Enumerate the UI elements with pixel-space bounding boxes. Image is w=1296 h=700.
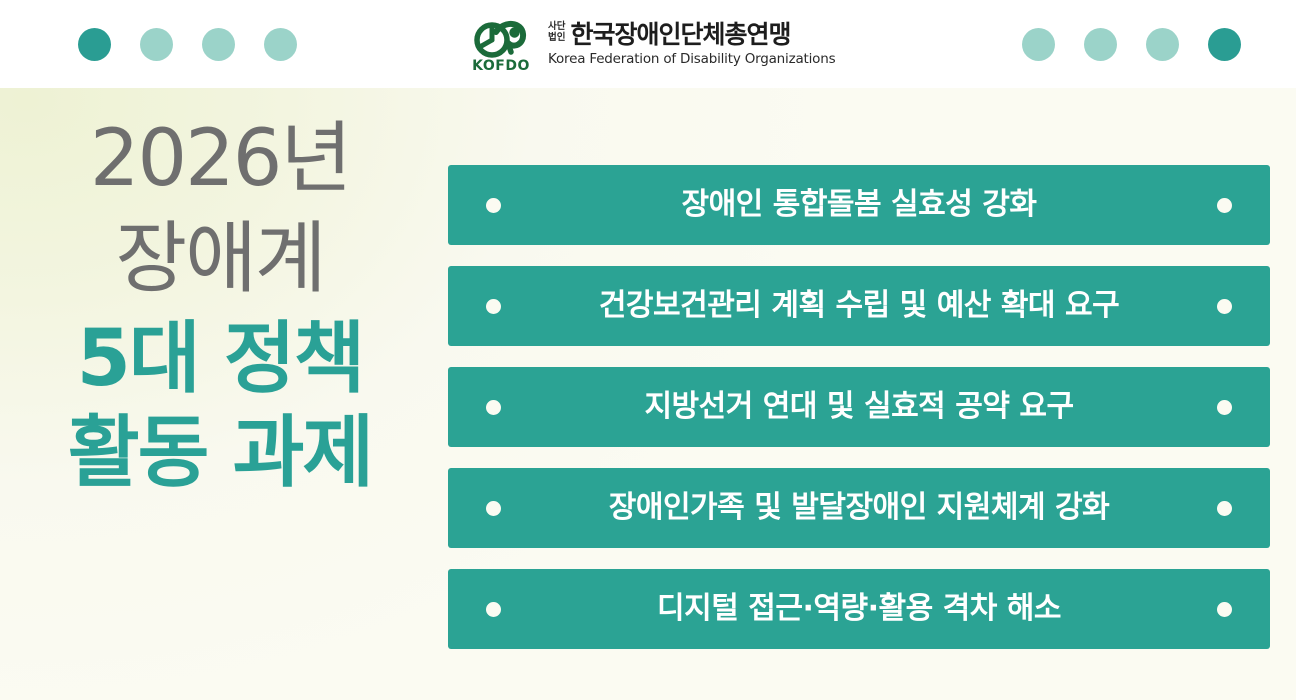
policy-bar-label-4: 장애인가족 및 발달장애인 지원체계 강화 [609,493,1109,523]
policy-bar-label-1: 장애인 통합돌봄 실효성 강화 [681,190,1036,220]
logo-corp-line-2: 법인 [548,32,565,43]
poster-headline: 2026년 장애계 5대 정책 활동 과제 [0,120,440,492]
decorative-dot-right-2 [1084,28,1117,61]
bullet-dot-right-icon [1217,198,1232,213]
policy-bar-1[interactable]: 장애인 통합돌봄 실효성 강화 [448,165,1270,245]
decorative-dot-left-3 [202,28,235,61]
logo-korean-name: 한국장애인단체총연맹 [570,22,790,47]
policy-bar-label-5: 디지털 접근·역량·활용 격차 해소 [657,594,1061,624]
logo-acronym: KOFDO [472,59,530,73]
organization-logo: KOFDO 사단 법인 한국장애인단체총연맹 Korea Federation … [462,8,842,80]
policy-bar-list: 장애인 통합돌봄 실효성 강화 건강보건관리 계획 수립 및 예산 확대 요구 … [448,165,1270,649]
bullet-dot-left-icon [486,198,501,213]
decorative-dots-right [1022,28,1241,61]
headline-tasks: 활동 과제 [0,414,440,492]
logo-corp-line-1: 사단 [548,21,565,32]
bullet-dot-right-icon [1217,501,1232,516]
logo-corporation-prefix: 사단 법인 [548,21,565,47]
policy-bar-4[interactable]: 장애인가족 및 발달장애인 지원체계 강화 [448,468,1270,548]
headline-year: 2026년 [0,120,440,198]
policy-bar-2[interactable]: 건강보건관리 계획 수립 및 예산 확대 요구 [448,266,1270,346]
logo-english-name: Korea Federation of Disability Organizat… [548,53,835,67]
policy-bar-label-2: 건강보건관리 계획 수립 및 예산 확대 요구 [599,291,1119,321]
decorative-dot-left-2 [140,28,173,61]
decorative-dot-left-1 [78,28,111,61]
bullet-dot-left-icon [486,299,501,314]
bullet-dot-right-icon [1217,299,1232,314]
policy-bar-5[interactable]: 디지털 접근·역량·활용 격차 해소 [448,569,1270,649]
decorative-dots-left [78,28,297,61]
policy-poster: KOFDO 사단 법인 한국장애인단체총연맹 Korea Federation … [0,0,1296,700]
policy-bar-label-3: 지방선거 연대 및 실효적 공약 요구 [644,392,1073,422]
decorative-dot-right-1 [1022,28,1055,61]
logo-text-block: 사단 법인 한국장애인단체총연맹 Korea Federation of Dis… [548,21,835,67]
header-band: KOFDO 사단 법인 한국장애인단체총연맹 Korea Federation … [0,0,1296,88]
decorative-dot-right-4 [1208,28,1241,61]
bullet-dot-right-icon [1217,400,1232,415]
bullet-dot-right-icon [1217,602,1232,617]
bullet-dot-left-icon [486,501,501,516]
kofdo-wheelchair-logo-icon: KOFDO [462,16,540,73]
policy-bar-3[interactable]: 지방선거 연대 및 실효적 공약 요구 [448,367,1270,447]
headline-policy: 5대 정책 [0,320,440,398]
bullet-dot-left-icon [486,400,501,415]
headline-sector: 장애계 [0,220,440,298]
decorative-dot-right-3 [1146,28,1179,61]
decorative-dot-left-4 [264,28,297,61]
bullet-dot-left-icon [486,602,501,617]
